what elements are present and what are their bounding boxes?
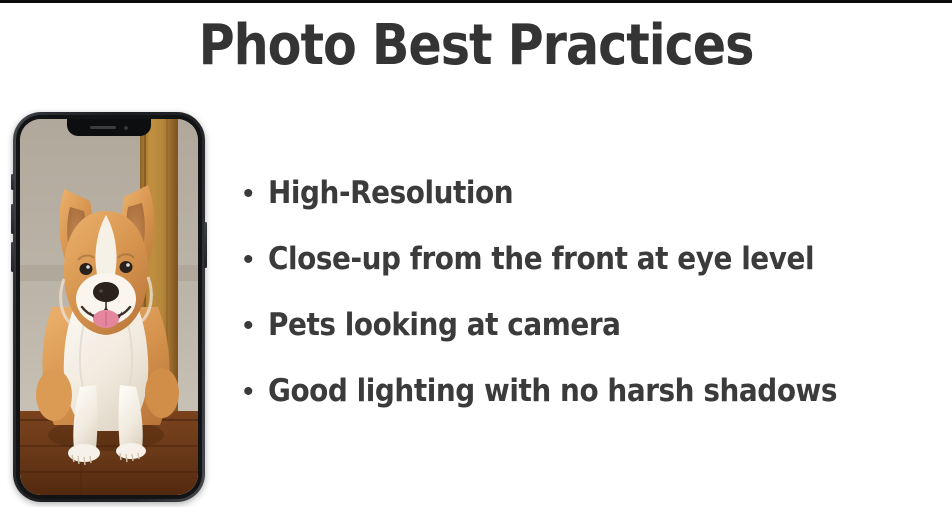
list-item-label: High-Resolution [268,176,881,210]
front-camera-icon [124,126,128,130]
power-button [204,222,207,268]
volume-up-button [11,204,14,234]
list-item: • Good lighting with no harsh shadows [243,374,949,440]
list-item-label: Close-up from the front at eye level [268,242,881,276]
speaker-grille-icon [90,126,116,129]
best-practices-list: • High-Resolution • Close-up from the fr… [243,176,949,440]
list-item-label: Good lighting with no harsh shadows [268,374,881,408]
bullet-point-icon: • [243,245,268,275]
phone-notch [67,119,151,136]
list-item: • High-Resolution [243,176,949,242]
list-item: • Pets looking at camera [243,308,949,374]
list-item-label: Pets looking at camera [268,308,881,342]
top-black-strip [0,0,952,3]
phone-mockup [13,112,205,502]
bullet-point-icon: • [243,311,268,341]
corgi-dog-photo [20,119,198,495]
list-item: • Close-up from the front at eye level [243,242,949,308]
bullet-point-icon: • [243,179,268,209]
volume-down-button [11,242,14,272]
page-title: Photo Best Practices [57,14,895,78]
bullet-point-icon: • [243,377,268,407]
phone-screen [20,119,198,495]
silent-switch [11,174,14,190]
